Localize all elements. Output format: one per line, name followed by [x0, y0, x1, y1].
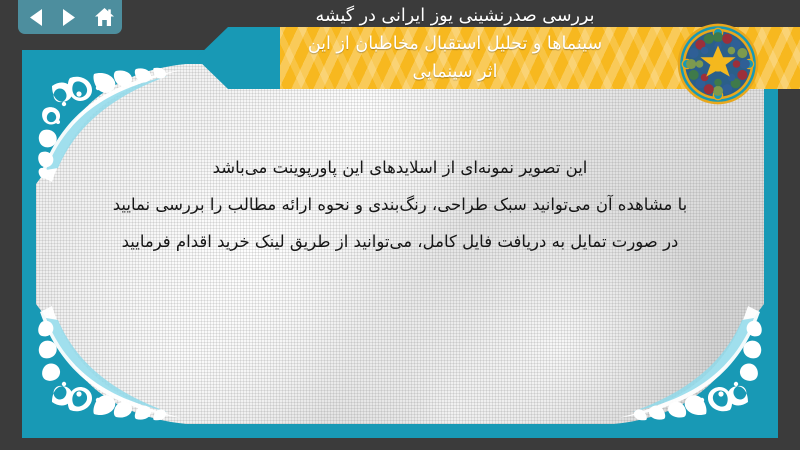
arabesque-filigree-ornament-bottom-left	[36, 304, 186, 424]
triangle-left-icon	[27, 8, 44, 27]
title-line-3: اثر سینمایی	[220, 58, 690, 86]
presentation-slide: این تصویر نمونه‌ای از اسلایدهای این پاور…	[0, 0, 800, 450]
slide-content-surface: این تصویر نمونه‌ای از اسلایدهای این پاور…	[36, 64, 764, 424]
previous-slide-button[interactable]	[22, 5, 48, 29]
persian-medallion-ornament	[676, 22, 760, 106]
body-line-3: در صورت تمایل به دریافت فایل کامل، می‌تو…	[76, 223, 724, 260]
title-line-1: بررسی صدرنشینی یوز ایرانی در گیشه	[220, 2, 690, 30]
arabesque-filigree-ornament-bottom-right	[614, 304, 764, 424]
triangle-right-icon	[61, 8, 78, 27]
slide-body-text: این تصویر نمونه‌ای از اسلایدهای این پاور…	[76, 149, 724, 260]
home-button[interactable]	[92, 5, 118, 29]
slide-content-frame: این تصویر نمونه‌ای از اسلایدهای این پاور…	[22, 50, 778, 438]
body-line-1: این تصویر نمونه‌ای از اسلایدهای این پاور…	[76, 149, 724, 186]
slide-navigation-bar[interactable]	[18, 0, 122, 34]
page-title: بررسی صدرنشینی یوز ایرانی در گیشه سینماه…	[220, 2, 690, 86]
body-line-2: با مشاهده آن می‌توانید سبک طراحی، رنگ‌بن…	[76, 186, 724, 223]
title-line-2: سینماها و تحلیل استقبال مخاطبان از این	[220, 30, 690, 58]
home-icon	[94, 7, 115, 27]
next-slide-button[interactable]	[57, 5, 83, 29]
